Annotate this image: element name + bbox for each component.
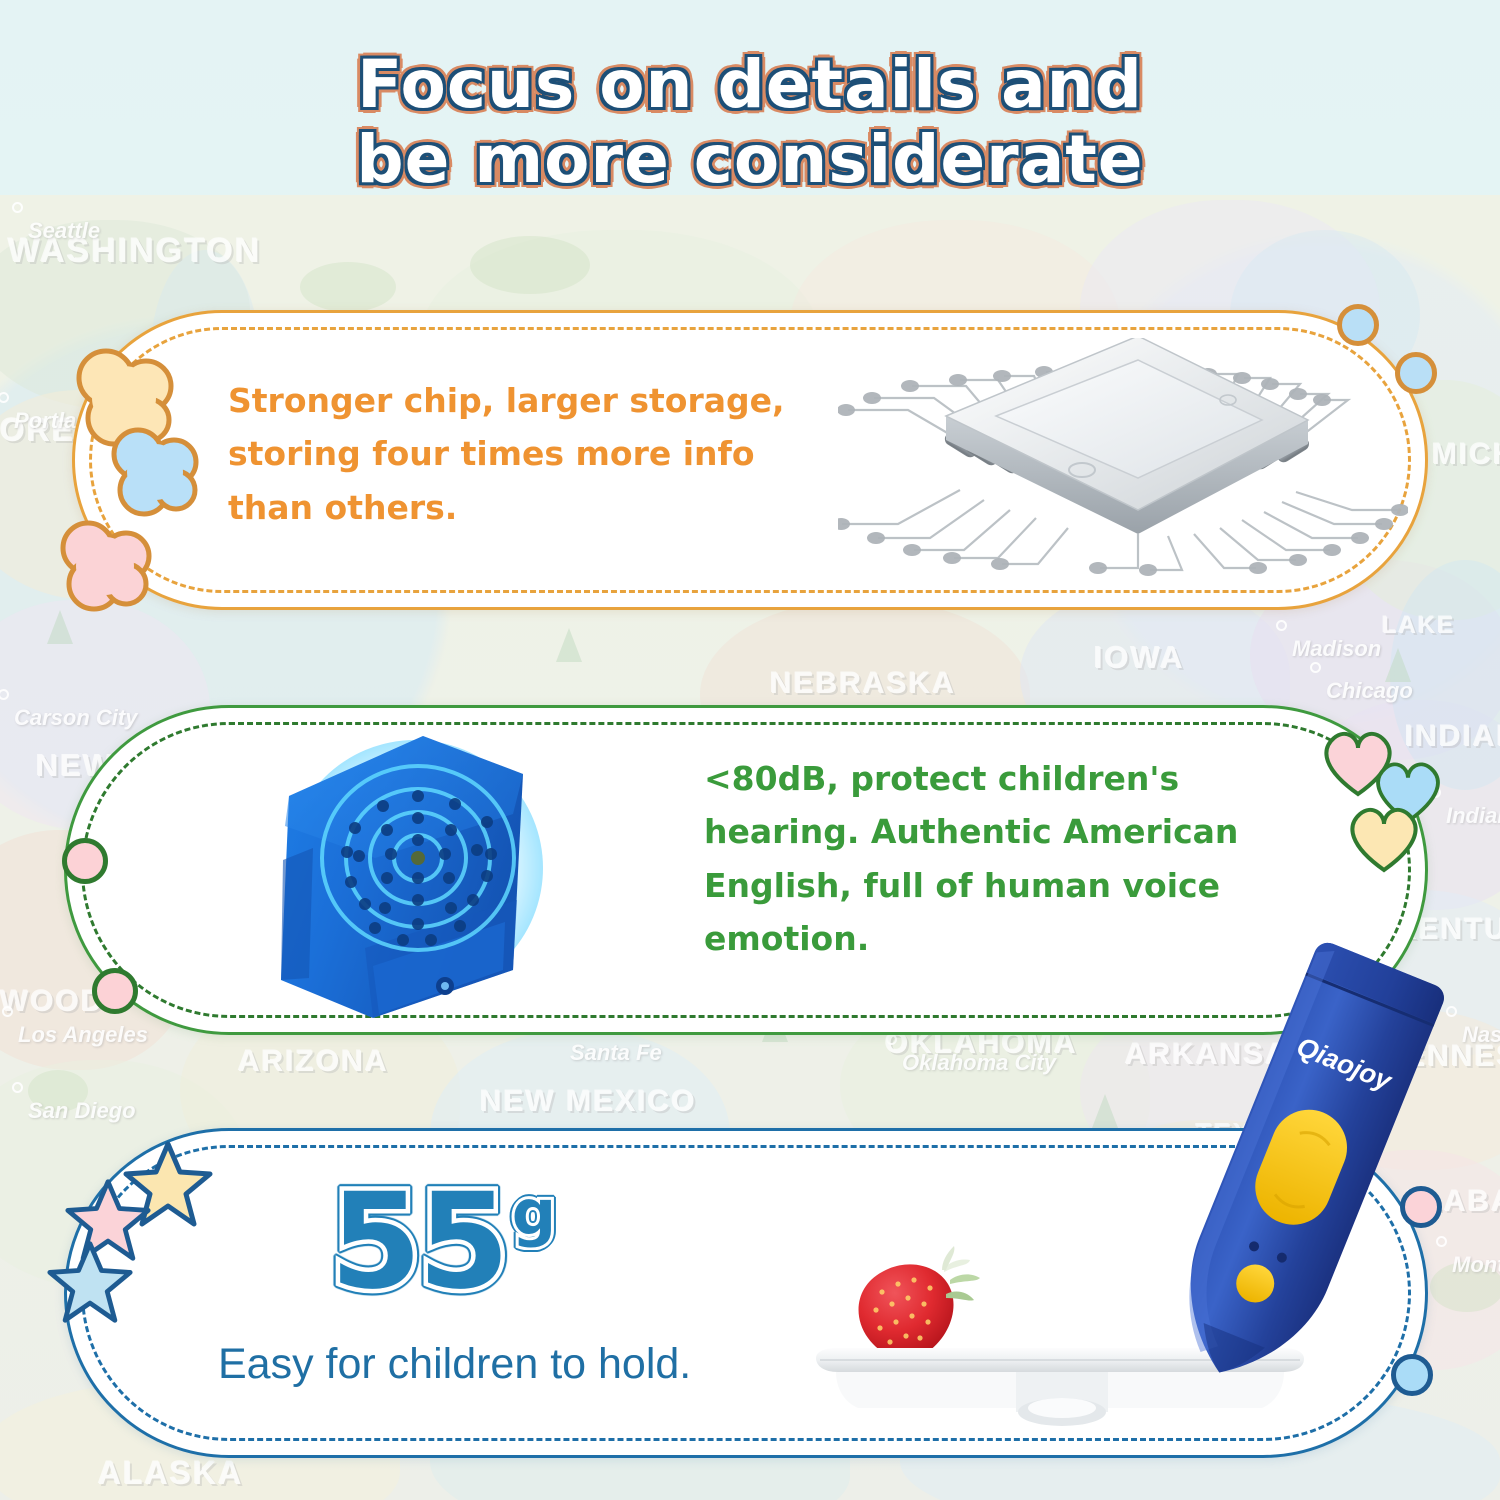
weight-number: 55 bbox=[330, 1176, 506, 1308]
weight-unit: g bbox=[512, 1182, 556, 1244]
card2-copy-text: <80dB, protect children's hearing. Authe… bbox=[704, 752, 1284, 966]
circle-blue-top-decoration bbox=[1337, 304, 1379, 346]
headline-line-2: be more considerate bbox=[0, 123, 1500, 198]
weight-caption: Easy for children to hold. bbox=[218, 1340, 691, 1389]
page-title: Focus on details and be more considerate bbox=[0, 48, 1500, 197]
circle-blue-bottom-decoration bbox=[1395, 352, 1437, 394]
headline-line-1: Focus on details and bbox=[0, 48, 1500, 123]
speaker-module-icon bbox=[255, 718, 575, 1033]
circle-pink-bottom-decoration bbox=[92, 968, 138, 1014]
infographic-root: WASHINGTONOREGONNEWWOODARIZONANEW MEXICO… bbox=[0, 0, 1500, 1500]
reading-pen-product: Qiaojoy bbox=[1150, 940, 1450, 1400]
circle-pink-top-decoration bbox=[62, 838, 108, 884]
heart-yellow-decoration bbox=[1342, 800, 1426, 881]
strawberry-icon bbox=[859, 1246, 980, 1360]
card1-copy-text: Stronger chip, larger storage, storing f… bbox=[228, 374, 828, 534]
weight-value-group: 55 g bbox=[330, 1176, 556, 1308]
cloud-pink-decoration bbox=[48, 512, 163, 622]
microchip-icon bbox=[838, 338, 1408, 578]
star-blue-decoration bbox=[44, 1238, 136, 1331]
cloud-blue-decoration bbox=[100, 420, 210, 525]
